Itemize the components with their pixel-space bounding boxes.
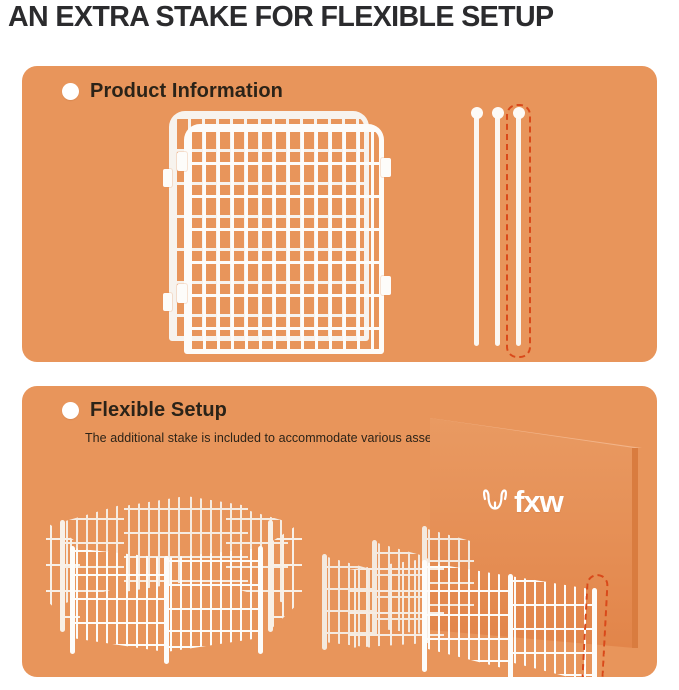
stake-2 bbox=[495, 116, 500, 346]
panel-connector-tab-front-right-lower bbox=[381, 276, 391, 295]
pen-panel-front-right bbox=[166, 548, 260, 652]
wall-pen-mesh-near-1 bbox=[424, 562, 510, 670]
fxw-wordmark: fxw bbox=[514, 484, 563, 520]
wall-pen-post-near-center bbox=[508, 574, 513, 677]
card-product-heading-row: Product Information bbox=[62, 80, 283, 103]
extra-stake-highlight bbox=[506, 104, 531, 358]
pen-panel-front-left bbox=[72, 548, 166, 652]
fxw-logo: fxw bbox=[482, 484, 563, 520]
panel-connector-tab-back-top bbox=[163, 169, 172, 187]
wall-pen-near-run bbox=[418, 524, 598, 677]
panel-connector-tab-front-upper bbox=[177, 152, 187, 171]
dog-head-icon bbox=[482, 484, 508, 520]
wall-pen-post-far-a bbox=[322, 554, 327, 650]
stake-1-head-icon bbox=[471, 107, 483, 119]
card-flexible-title: Flexible Setup bbox=[90, 399, 227, 422]
panel-connector-tab-front-lower bbox=[177, 284, 187, 303]
page-title: AN EXTRA STAKE FOR FLEXIBLE SETUP bbox=[8, 0, 663, 36]
pen-post-front-center bbox=[164, 556, 169, 664]
circle-bullet-icon bbox=[62, 402, 79, 419]
card-flexible-setup: Flexible Setup The additional stake is i… bbox=[22, 386, 657, 677]
wall-pen-panel-near-1 bbox=[424, 562, 510, 670]
extra-stake-highlight bbox=[581, 574, 609, 677]
panel-connector-tab-back-bottom bbox=[163, 293, 172, 311]
card-product-title: Product Information bbox=[90, 80, 283, 103]
wall-side-edge bbox=[632, 448, 638, 648]
octagonal-playpen bbox=[40, 486, 308, 661]
panel-horizontal-rails-front bbox=[189, 129, 379, 349]
circle-bullet-icon bbox=[62, 83, 79, 100]
card-product-information: Product Information bbox=[22, 66, 657, 362]
pen-post-back-right bbox=[268, 520, 273, 632]
pen-mesh-front-right bbox=[166, 548, 260, 652]
wire-panel-front bbox=[184, 124, 384, 354]
pen-post-back-left bbox=[60, 520, 65, 632]
pen-post-front-left bbox=[70, 546, 75, 654]
pen-post-front-right bbox=[258, 546, 263, 654]
stake-2-head-icon bbox=[492, 107, 504, 119]
wall-pen-post-near-left bbox=[422, 560, 427, 672]
card-flexible-heading-row: Flexible Setup bbox=[62, 399, 227, 422]
playpen-along-wall-scene: fxw bbox=[322, 406, 657, 676]
stake-1 bbox=[474, 116, 479, 346]
product-infographic: AN EXTRA STAKE FOR FLEXIBLE SETUP Produc… bbox=[0, 0, 679, 690]
pen-mesh-front-left bbox=[72, 548, 166, 652]
panel-connector-tab-front-right-upper bbox=[381, 158, 391, 177]
